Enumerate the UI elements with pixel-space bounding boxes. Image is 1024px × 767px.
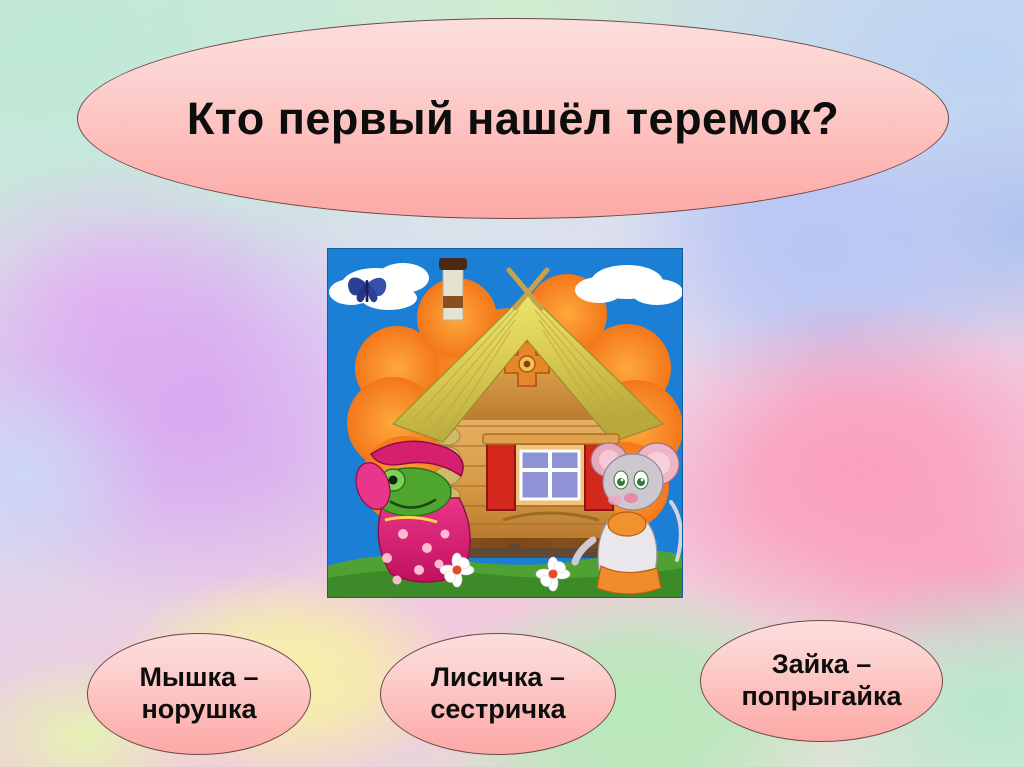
question-bubble: Кто первый нашёл теремок? xyxy=(77,18,949,219)
answer-option-1-label: Мышка –норушка xyxy=(131,662,266,726)
chimney xyxy=(439,258,467,320)
shutter-left xyxy=(487,440,515,510)
slide-canvas: Кто первый нашёл теремок? xyxy=(0,0,1024,767)
page-title: Кто первый нашёл теремок? xyxy=(187,94,839,144)
teremok-illustration-svg xyxy=(327,248,683,598)
answer-option-3-label: Зайка –попрыгайка xyxy=(733,649,909,713)
answer-option-2[interactable]: Лисичка –сестричка xyxy=(380,633,616,755)
answer-option-1[interactable]: Мышка –норушка xyxy=(87,633,311,755)
mouse-nose xyxy=(624,493,638,503)
window-cornice xyxy=(483,434,619,444)
mouse-bucket xyxy=(608,512,646,536)
answer-option-2-label: Лисичка –сестричка xyxy=(422,662,573,726)
teremok-illustration xyxy=(327,248,683,598)
answer-option-3[interactable]: Зайка –попрыгайка xyxy=(700,620,943,742)
